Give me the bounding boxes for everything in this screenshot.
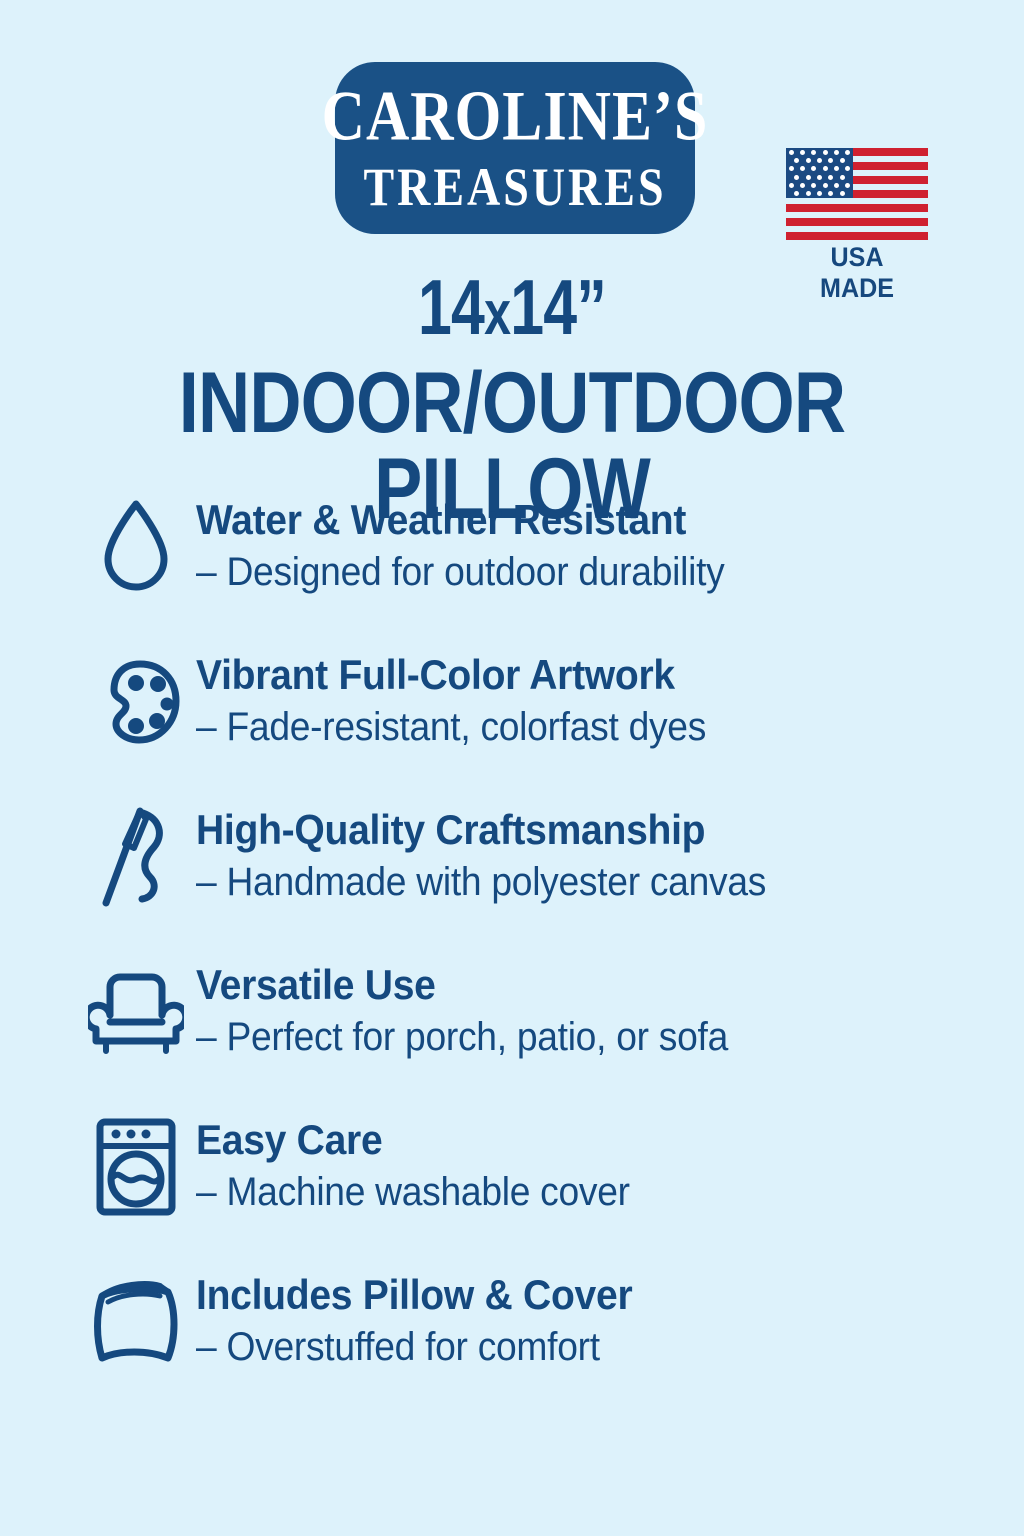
pillow-icon [88, 1269, 184, 1374]
usa-flag-icon [786, 146, 928, 234]
feature-title: Versatile Use [196, 959, 728, 1011]
list-item: Easy Care – Machine washable cover [0, 1112, 1024, 1267]
feature-subtitle: – Machine washable cover [196, 1166, 630, 1218]
brand-logo-badge: CAROLINE’S TREASURES [335, 62, 695, 234]
feature-text: Vibrant Full-Color Artwork – Fade-resist… [184, 647, 744, 753]
feature-subtitle: – Overstuffed for comfort [196, 1321, 632, 1373]
brand-name-line-2: TREASURES [363, 160, 666, 213]
feature-text: Includes Pillow & Cover – Overstuffed fo… [184, 1267, 665, 1373]
header: CAROLINE’S TREASURES [0, 62, 1024, 232]
list-item: Versatile Use – Perfect for porch, patio… [0, 957, 1024, 1112]
feature-subtitle: – Fade-resistant, colorfast dyes [196, 701, 706, 753]
feature-list: Water & Weather Resistant – Designed for… [0, 492, 1024, 1422]
list-item: High-Quality Craftsmanship – Handmade wi… [0, 802, 1024, 957]
water-droplet-icon [88, 494, 184, 599]
feature-title: Water & Weather Resistant [196, 494, 724, 546]
feature-subtitle: – Designed for outdoor durability [196, 546, 724, 598]
size-value-b: 14” [510, 263, 606, 351]
feature-title: Easy Care [196, 1114, 630, 1166]
usa-made-badge: USA MADE [786, 146, 928, 284]
feature-title: Vibrant Full-Color Artwork [196, 649, 706, 701]
feature-subtitle: – Handmade with polyester canvas [196, 856, 766, 908]
needle-thread-icon [88, 804, 184, 909]
paint-palette-icon [88, 649, 184, 754]
feature-title: Includes Pillow & Cover [196, 1269, 632, 1321]
flag-canton-icon [786, 148, 853, 198]
feature-subtitle: – Perfect for porch, patio, or sofa [196, 1011, 728, 1063]
washing-machine-icon [88, 1114, 184, 1219]
feature-text: High-Quality Craftsmanship – Handmade wi… [184, 802, 809, 908]
list-item: Water & Weather Resistant – Designed for… [0, 492, 1024, 647]
feature-text: Easy Care – Machine washable cover [184, 1112, 662, 1218]
brand-name-line-1: CAROLINE’S [322, 82, 709, 151]
list-item: Includes Pillow & Cover – Overstuffed fo… [0, 1267, 1024, 1422]
size-value: 14 [418, 263, 484, 351]
size-title: 14x14” [113, 268, 912, 353]
feature-title: High-Quality Craftsmanship [196, 804, 766, 856]
feature-text: Versatile Use – Perfect for porch, patio… [184, 957, 768, 1063]
list-item: Vibrant Full-Color Artwork – Fade-resist… [0, 647, 1024, 802]
feature-text: Water & Weather Resistant – Designed for… [184, 492, 764, 598]
armchair-icon [88, 959, 184, 1064]
size-separator: x [484, 279, 510, 348]
product-infographic: CAROLINE’S TREASURES [0, 0, 1024, 1536]
